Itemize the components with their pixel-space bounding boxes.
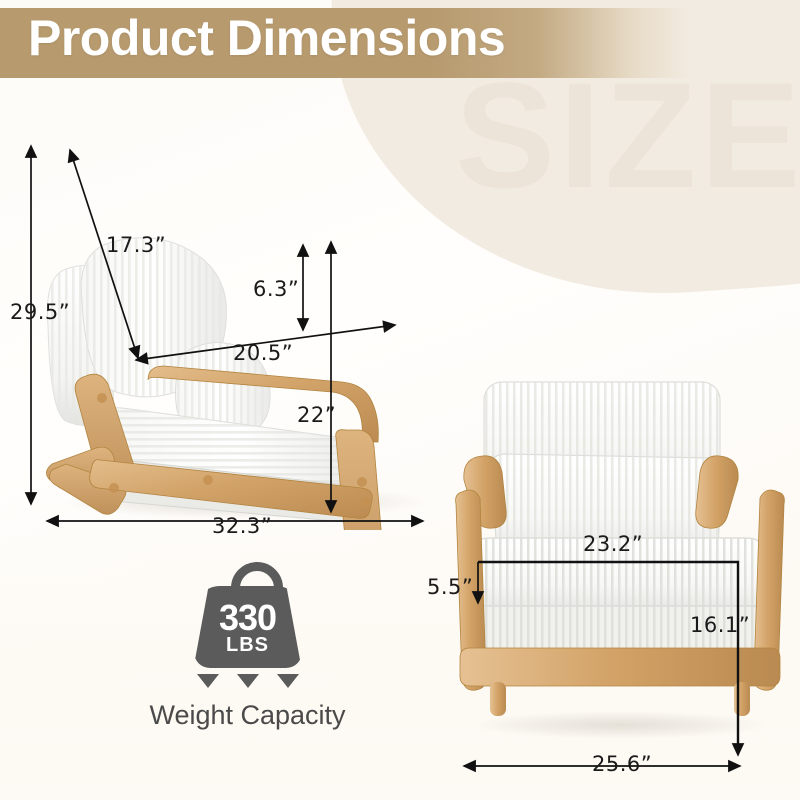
- dim-arm-height: 22”: [297, 403, 336, 427]
- dim-overall-height: 29.5”: [10, 300, 70, 324]
- dim-backrest-depth: 17.3”: [106, 233, 166, 257]
- size-watermark: SIZE: [455, 60, 800, 210]
- dim-seat-width: 23.2”: [583, 532, 643, 556]
- weight-value: 330: [188, 600, 308, 636]
- dim-overall-depth: 32.3”: [212, 514, 272, 538]
- infographic-canvas: SIZE Product Dimensions: [0, 0, 800, 800]
- down-triangle-icon: [277, 674, 299, 688]
- weight-capacity-label: Weight Capacity: [140, 700, 355, 731]
- dim-seat-height: 16.1”: [690, 613, 750, 637]
- weight-unit: LBS: [188, 635, 308, 655]
- dim-overall-width: 25.6”: [592, 752, 652, 776]
- weight-icon: 330 LBS: [188, 560, 308, 670]
- side-view-dimension-lines: [0, 0, 460, 560]
- weight-arrows: [140, 674, 355, 688]
- down-triangle-icon: [197, 674, 219, 688]
- down-triangle-icon: [237, 674, 259, 688]
- dim-cushion-thickness: 5.5”: [427, 575, 473, 599]
- dim-seat-depth: 20.5”: [233, 341, 293, 365]
- weight-capacity-block: 330 LBS Weight Capacity: [140, 560, 355, 731]
- dim-arm-to-seat: 6.3”: [253, 277, 299, 301]
